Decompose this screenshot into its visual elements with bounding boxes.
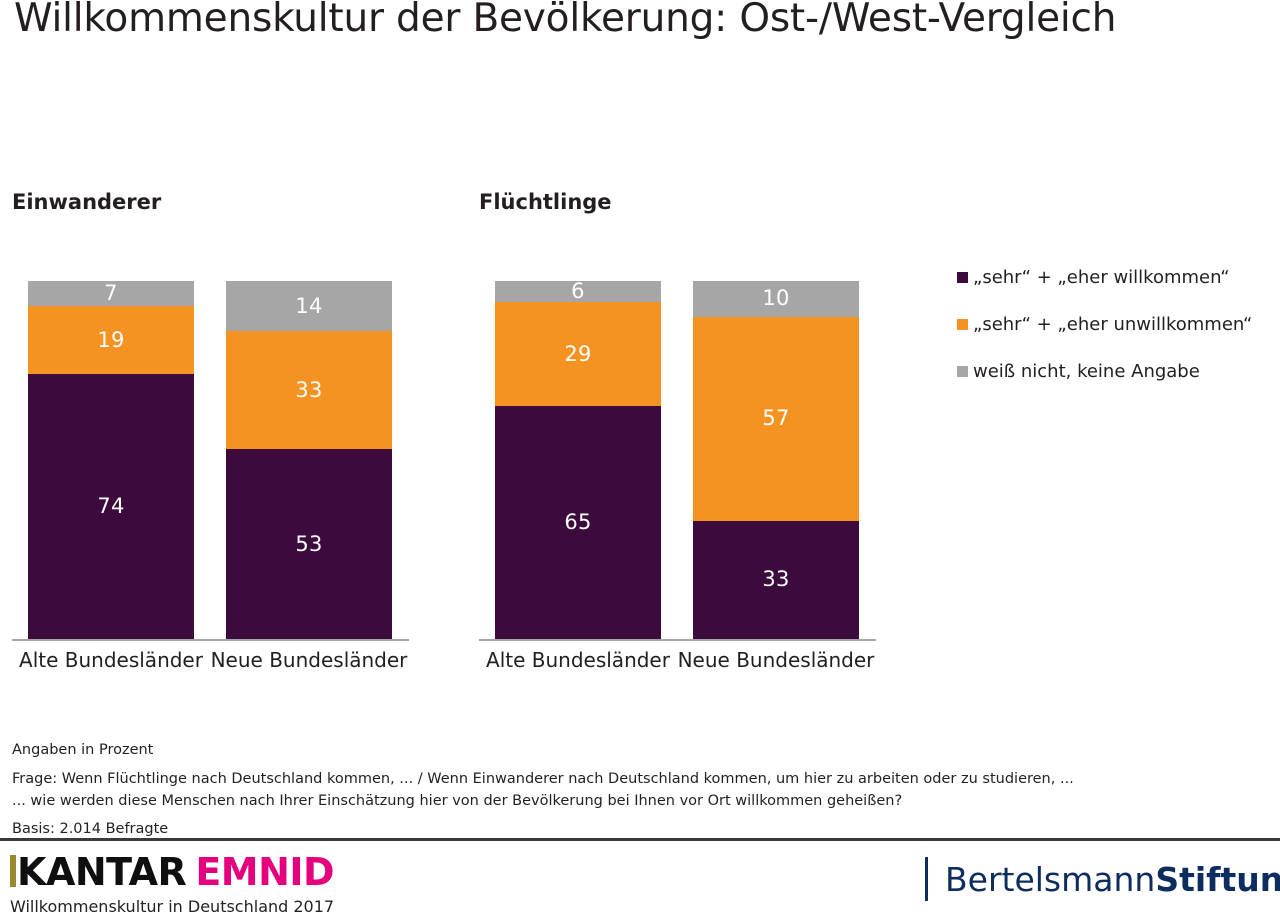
bar-segment-value-label: 7 (104, 283, 118, 304)
bertelsmann-stiftung-logo: BertelsmannStiftung (925, 857, 1280, 901)
plot-area-einwanderer: 71974 143353 (12, 281, 409, 641)
bar-segment-value-label: 57 (762, 408, 789, 429)
stiftung-text: Stiftung (1155, 860, 1280, 899)
panel-title-fluechtlinge: Flüchtlinge (479, 190, 612, 214)
category-labels-fluechtlinge: Alte Bundesländer Neue Bundesländer (479, 648, 876, 678)
category-labels-einwanderer: Alte Bundesländer Neue Bundesländer (12, 648, 409, 678)
legend-item[interactable]: „sehr“ + „eher willkommen“ (957, 268, 1277, 288)
stacked-bar-fluechtlinge-alte-bundeslaender[interactable]: 62965 (495, 281, 661, 639)
kantar-gold-bar-icon (10, 855, 16, 887)
bertelsmann-bar-icon (925, 857, 928, 901)
bar-segment-value-label: 53 (295, 534, 322, 555)
legend-swatch-willkommen (957, 272, 968, 283)
legend-swatch-unwillkommen (957, 319, 968, 330)
emnid-text: EMNID (195, 853, 334, 891)
plot-area-fluechtlinge: 62965 105733 (479, 281, 876, 641)
bar-segment-value-label: 6 (571, 281, 585, 302)
bar-segment-value-label: 33 (762, 569, 789, 590)
bar-segment[interactable]: 74 (28, 374, 194, 639)
bar-segment[interactable]: 7 (28, 281, 194, 306)
legend-item[interactable]: weiß nicht, keine Angabe (957, 362, 1277, 382)
kantar-study-subtitle: Willkommenskultur in Deutschland 2017 (10, 897, 334, 916)
page-title: Willkommenskultur der Bevölkerung: Ost-/… (14, 0, 1116, 41)
bar-segment[interactable]: 57 (693, 317, 859, 521)
bar-segment[interactable]: 33 (693, 521, 859, 639)
legend-swatch-weiss-nicht (957, 366, 968, 377)
category-label-alte-bundeslaender: Alte Bundesländer (468, 648, 688, 672)
bar-segment[interactable]: 6 (495, 281, 661, 302)
legend-item-label: weiß nicht, keine Angabe (973, 362, 1200, 382)
bar-segment-value-label: 19 (97, 330, 124, 351)
note-frage-line1: Frage: Wenn Flüchtlinge nach Deutschland… (12, 769, 1272, 791)
bar-segment-value-label: 33 (295, 380, 322, 401)
legend-item[interactable]: „sehr“ + „eher unwillkommen“ (957, 315, 1277, 335)
bertelsmann-text: Bertelsmann (945, 860, 1155, 899)
chart-footnotes: Angaben in Prozent Frage: Wenn Flüchtlin… (12, 740, 1272, 841)
note-angaben-in-prozent: Angaben in Prozent (12, 740, 1272, 762)
bar-segment[interactable]: 29 (495, 302, 661, 406)
category-label-neue-bundeslaender: Neue Bundesländer (666, 648, 886, 672)
legend-item-label: „sehr“ + „eher willkommen“ (973, 268, 1230, 288)
bar-segment-value-label: 14 (295, 296, 322, 317)
panel-title-einwanderer: Einwanderer (12, 190, 161, 214)
stacked-bar-einwanderer-alte-bundeslaender[interactable]: 71974 (28, 281, 194, 639)
note-frage-line2: ... wie werden diese Menschen nach Ihrer… (12, 791, 1272, 813)
x-axis-line-fluechtlinge (479, 639, 876, 641)
legend-item-label: „sehr“ + „eher unwillkommen“ (973, 315, 1252, 335)
kantar-wordmark: KANTAR EMNID (10, 853, 334, 891)
bar-segment[interactable]: 65 (495, 406, 661, 639)
bar-segment[interactable]: 33 (226, 331, 392, 449)
bertelsmann-wordmark: BertelsmannStiftung (945, 863, 1280, 896)
stacked-bar-einwanderer-neue-bundeslaender[interactable]: 143353 (226, 281, 392, 639)
stacked-bar-fluechtlinge-neue-bundeslaender[interactable]: 105733 (693, 281, 859, 639)
bar-segment[interactable]: 53 (226, 449, 392, 639)
bar-segment-value-label: 65 (564, 512, 591, 533)
footer-divider (0, 838, 1280, 841)
kantar-emnid-logo: KANTAR EMNID Willkommenskultur in Deutsc… (10, 853, 334, 916)
chart-legend: „sehr“ + „eher willkommen“„sehr“ + „eher… (957, 268, 1277, 408)
bar-segment[interactable]: 14 (226, 281, 392, 331)
category-label-neue-bundeslaender: Neue Bundesländer (199, 648, 419, 672)
kantar-text: KANTAR (17, 853, 186, 891)
bar-segment-value-label: 29 (564, 344, 591, 365)
bar-segment-value-label: 10 (762, 288, 789, 309)
x-axis-line-einwanderer (12, 639, 409, 641)
bar-segment-value-label: 74 (97, 496, 124, 517)
bar-segment[interactable]: 10 (693, 281, 859, 317)
category-label-alte-bundeslaender: Alte Bundesländer (1, 648, 221, 672)
bar-segment[interactable]: 19 (28, 306, 194, 374)
